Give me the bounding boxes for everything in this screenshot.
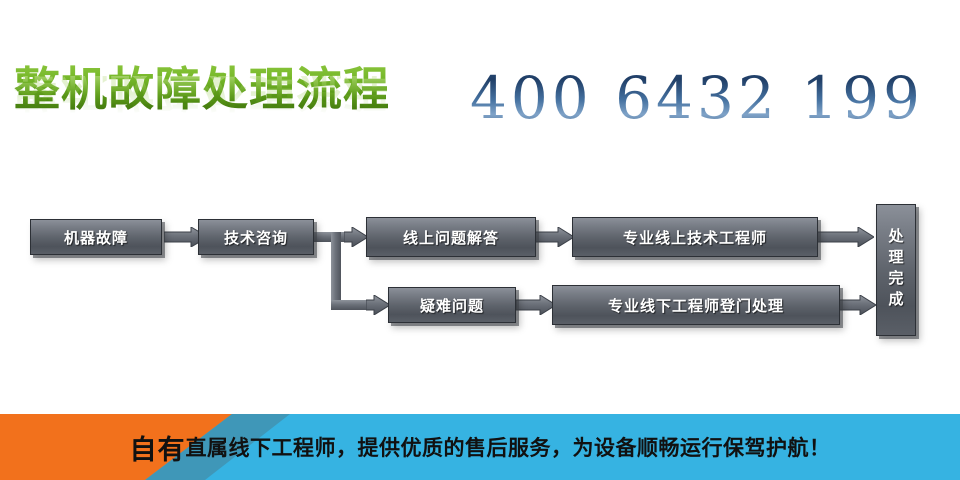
flow-node-hard-problem[interactable]: 疑难问题 [388,287,516,323]
arrow-onsiteeng-to-done [838,295,876,315]
flow-node-online-qa[interactable]: 线上问题解答 [366,217,536,257]
arrow-onlineeng-to-done [816,227,874,247]
flow-node-fault[interactable]: 机器故障 [30,219,162,255]
page-title-reflection: 整机故障处理流程 [14,76,434,116]
banner-text: 自有直属线下工程师，提供优质的售后服务，为设备顺畅运行保驾护航！ [0,414,960,480]
title-block: 整机故障处理流程 整机故障处理流程 [14,62,434,154]
flow-node-online-engineer[interactable]: 专业线上技术工程师 [572,217,818,257]
connector-consult-trunk-v [331,232,341,310]
poster-canvas: 整机故障处理流程 整机故障处理流程 400 6432 199 [0,0,960,480]
flow-node-done[interactable]: 处理完成 [876,204,916,336]
arrow-to-online-qa [344,227,368,247]
arrow-to-hard-problem [366,295,390,315]
banner-body-text: 直属线下工程师，提供优质的售后服务，为设备顺畅运行保驾护航！ [186,432,831,462]
banner-lead-text: 自有 [130,428,186,467]
arrow-onlineqa-to-onlineeng [534,227,574,247]
hotline-number: 400 6432 199 [470,64,924,132]
arrow-hardproblem-to-onsiteeng [516,295,556,315]
flow-node-consult[interactable]: 技术咨询 [198,219,314,255]
flow-node-onsite-engineer[interactable]: 专业线下工程师登门处理 [552,285,840,325]
bottom-banner: 自有直属线下工程师，提供优质的售后服务，为设备顺畅运行保驾护航！ [0,414,960,480]
